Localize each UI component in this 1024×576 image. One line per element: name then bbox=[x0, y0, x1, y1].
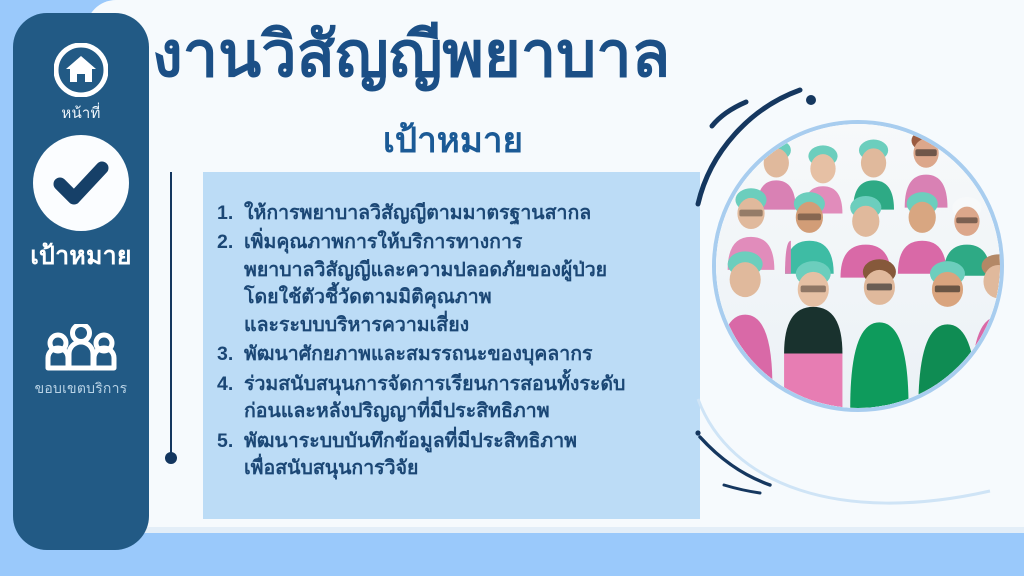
goal-item-line: ร่วมสนับสนุนการจัดการเรียนการสอนทั้งระดั… bbox=[244, 371, 684, 398]
background-bottom-band bbox=[0, 530, 1024, 576]
sidebar-item-duties[interactable]: หน้าที่ bbox=[13, 43, 149, 123]
goals-panel: ให้การพยาบาลวิสัญญีตามมาตรฐานสากลเพิ่มคุ… bbox=[203, 172, 700, 519]
sidebar-item-goal[interactable]: เป้าหมาย bbox=[13, 135, 149, 271]
goals-list: ให้การพยาบาลวิสัญญีตามมาตรฐานสากลเพิ่มคุ… bbox=[203, 172, 700, 483]
sidebar: หน้าที่ เป้าหมาย ขอบเขตบร bbox=[13, 13, 149, 550]
sidebar-item-service-scope-label: ขอบเขตบริการ bbox=[35, 381, 128, 396]
goal-item-line: ก่อนและหลังปริญญาที่มีประสิทธิภาพ bbox=[244, 398, 684, 425]
goal-item-line: พยาบาลวิสัญญีและความปลอดภัยของผู้ป่วย bbox=[244, 257, 684, 284]
goal-item-line: เพื่อสนับสนุนการวิจัย bbox=[244, 455, 684, 482]
vertical-connector-dot bbox=[165, 452, 177, 464]
goal-item-line: เพิ่มคุณภาพการให้บริการทางการ bbox=[244, 229, 684, 256]
team-photo bbox=[716, 124, 1000, 408]
goal-item: เพิ่มคุณภาพการให้บริการทางการพยาบาลวิสัญ… bbox=[217, 229, 684, 339]
goal-item: พัฒนาศักยภาพและสมรรถนะของบุคลากร bbox=[217, 341, 684, 368]
card-bottom-edge bbox=[86, 527, 1024, 533]
sidebar-item-goal-label: เป้าหมาย bbox=[30, 243, 132, 271]
slide-root: หน้าที่ เป้าหมาย ขอบเขตบร bbox=[0, 0, 1024, 576]
sidebar-item-duties-label: หน้าที่ bbox=[61, 106, 100, 123]
goal-item-line: พัฒนาระบบบันทึกข้อมูลที่มีประสิทธิภาพ bbox=[244, 428, 684, 455]
vertical-connector-line bbox=[170, 172, 172, 458]
goal-item-line: ให้การพยาบาลวิสัญญีตามมาตรฐานสากล bbox=[244, 200, 684, 227]
goal-item-line: พัฒนาศักยภาพและสมรรถนะของบุคลากร bbox=[244, 341, 684, 368]
goal-item: ร่วมสนับสนุนการจัดการเรียนการสอนทั้งระดั… bbox=[217, 371, 684, 426]
check-icon bbox=[33, 135, 129, 231]
goal-item: ให้การพยาบาลวิสัญญีตามมาตรฐานสากล bbox=[217, 200, 684, 227]
goal-item-line: โดยใช้ตัวชี้วัดตามมิติคุณภาพ bbox=[244, 284, 684, 311]
page-title: งานวิสัญญีพยาบาล bbox=[152, 19, 772, 92]
people-icon bbox=[44, 324, 118, 372]
page-subtitle: เป้าหมาย bbox=[203, 122, 703, 161]
goal-item: พัฒนาระบบบันทึกข้อมูลที่มีประสิทธิภาพเพื… bbox=[217, 428, 684, 483]
home-icon bbox=[54, 43, 108, 97]
goal-item-line: และระบบบริหารความเสี่ยง bbox=[244, 312, 684, 339]
team-photo-frame bbox=[712, 120, 1004, 412]
sidebar-item-service-scope[interactable]: ขอบเขตบริการ bbox=[13, 324, 149, 396]
